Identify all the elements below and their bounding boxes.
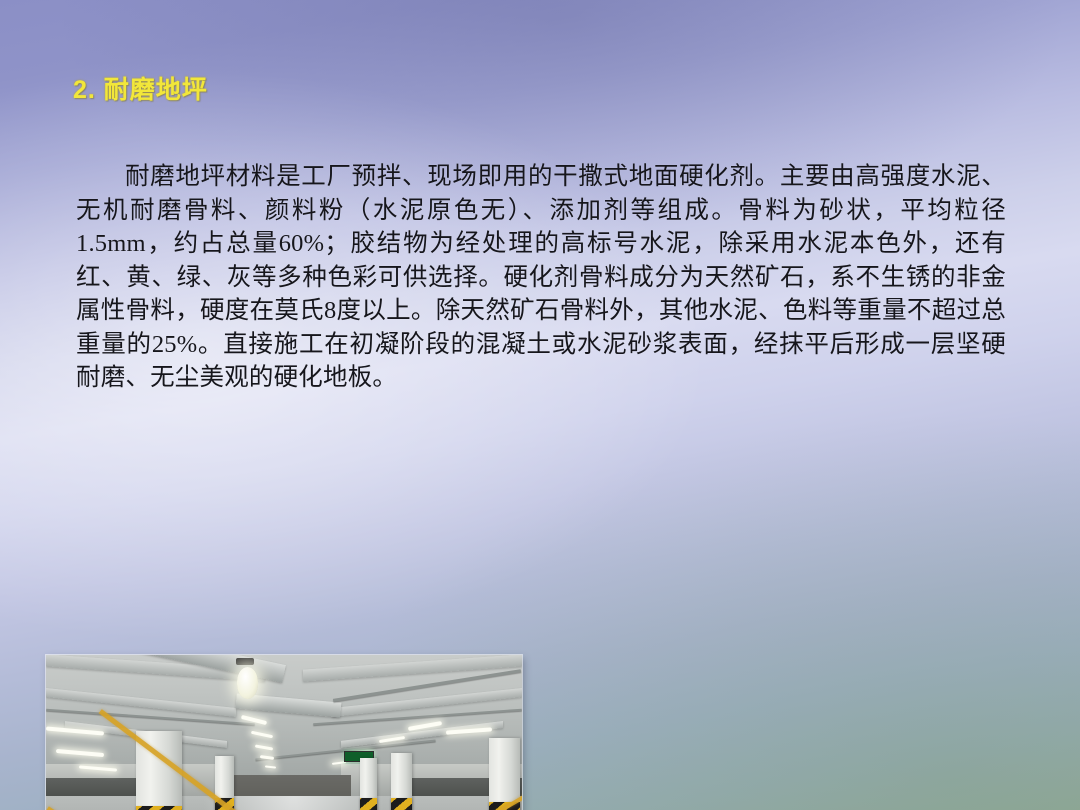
garage-column-hazard-stripe [391, 798, 412, 810]
slide-title: 2. 耐磨地坪 [73, 70, 1080, 106]
garage-scene [46, 655, 522, 810]
presentation-slide: 2. 耐磨地坪 耐磨地坪材料是工厂预拌、现场即用的干撒式地面硬化剂。主要由高强度… [0, 0, 1080, 810]
photo-parking-garage [46, 655, 522, 810]
garage-fluorescent-tube [265, 765, 276, 768]
garage-pendant-lamp [237, 667, 258, 699]
garage-column-hazard-stripe [136, 806, 181, 810]
garage-lamp-mount [236, 658, 254, 665]
slide-body-paragraph: 耐磨地坪材料是工厂预拌、现场即用的干撒式地面硬化剂。主要由高强度水泥、无机耐磨骨… [76, 160, 1006, 395]
garage-column-hazard-stripe [360, 798, 377, 810]
